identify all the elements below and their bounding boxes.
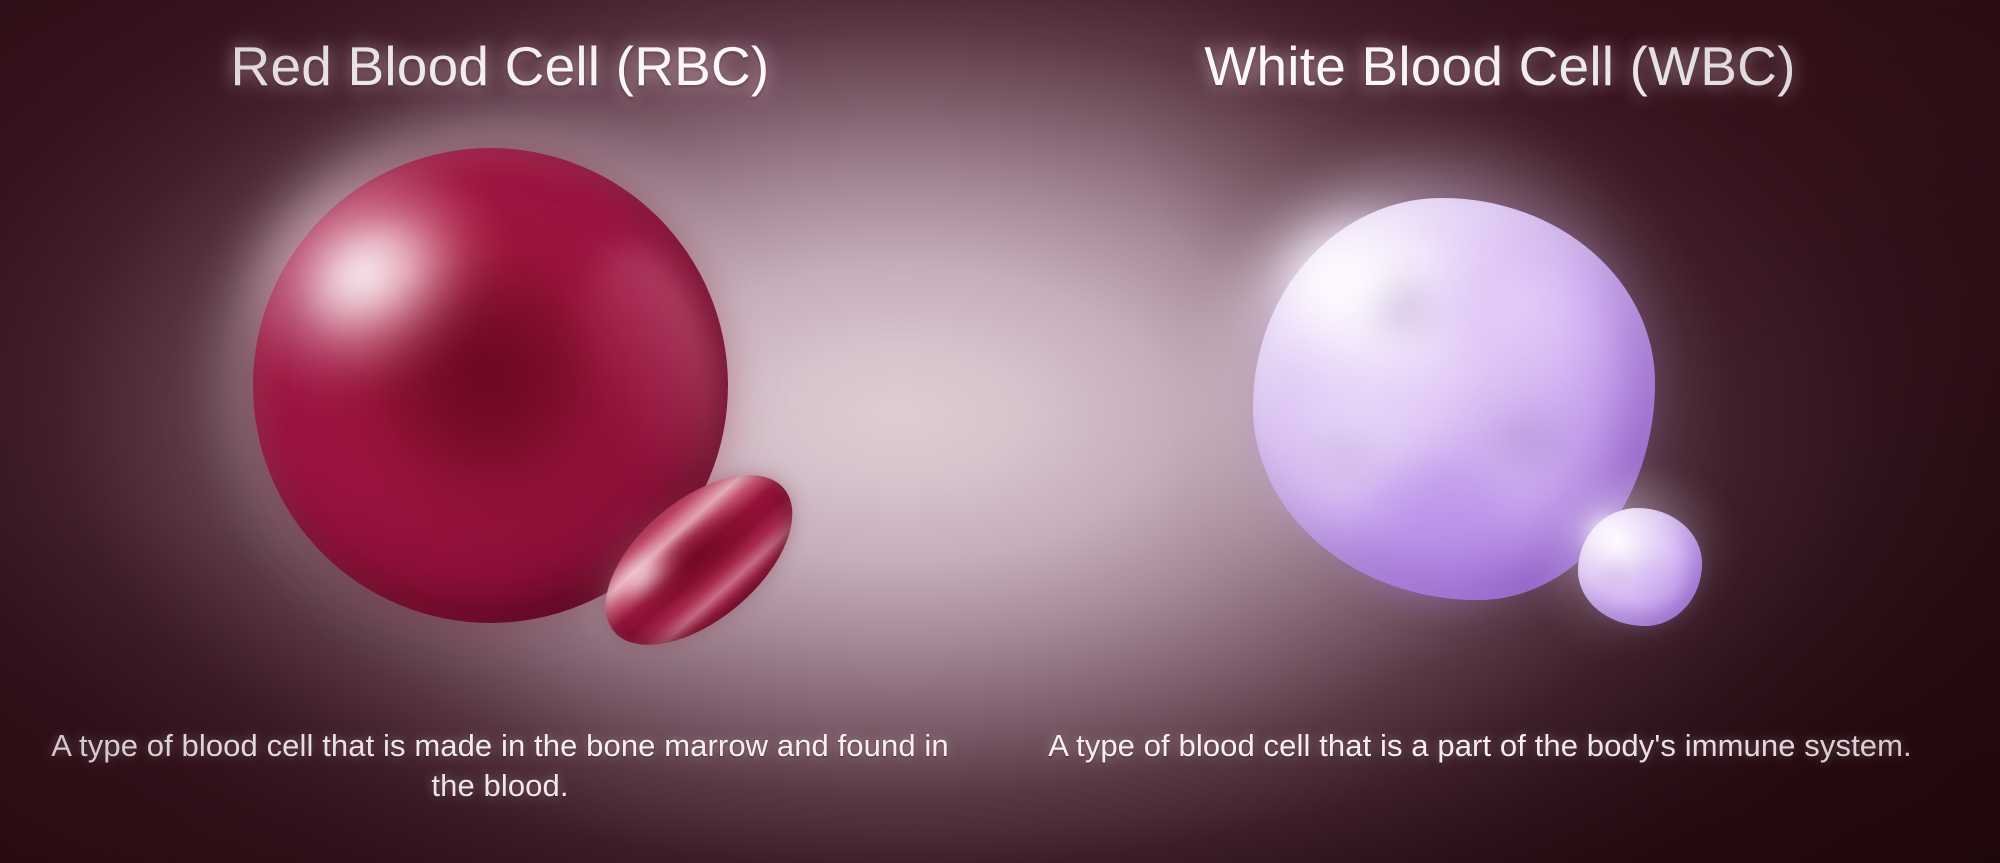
page-title-rbc: Red Blood Cell (RBC)	[0, 38, 1000, 96]
white-blood-cell-small-crease	[1598, 562, 1635, 593]
white-blood-cell-small	[1578, 508, 1702, 626]
white-blood-cell-small-lobe	[1590, 520, 1642, 565]
white-blood-cell-crease	[1462, 391, 1591, 496]
page-title-wbc: White Blood Cell (WBC)	[1000, 38, 2000, 96]
white-blood-cell-crease	[1293, 407, 1398, 503]
white-blood-cell-small-lobe	[1630, 560, 1685, 610]
white-blood-cell-crease	[1349, 254, 1454, 359]
caption-wbc: A type of blood cell that is a part of t…	[1020, 726, 1940, 766]
infographic-canvas: Red Blood Cell (RBC) A type of blood cel…	[0, 0, 2000, 863]
caption-rbc: A type of blood cell that is made in the…	[40, 726, 960, 807]
